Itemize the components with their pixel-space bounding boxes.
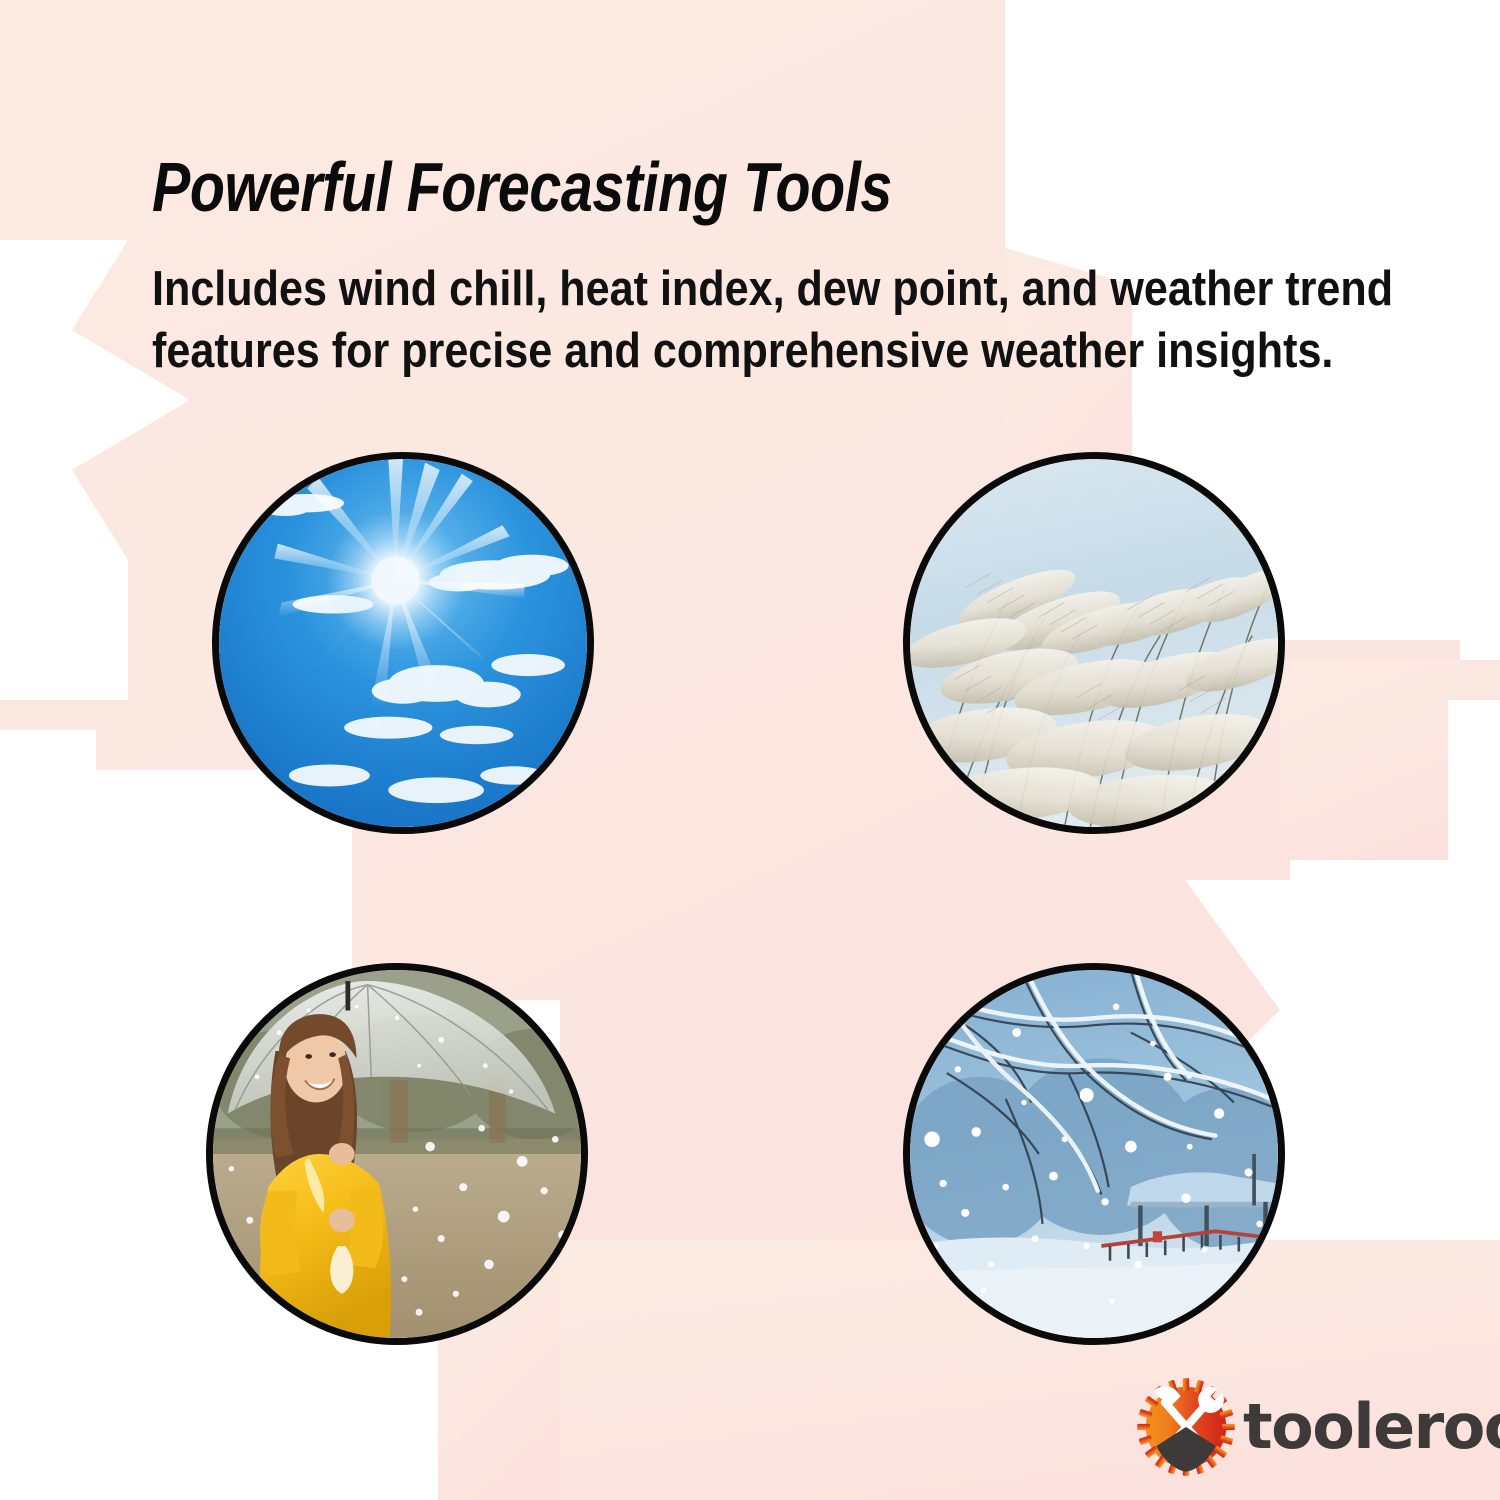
brand-logo[interactable]: tooleroo (1133, 1372, 1463, 1482)
headline-block: Powerful Forecasting Tools Includes wind… (152, 146, 1442, 382)
page-title: Powerful Forecasting Tools (152, 146, 1210, 228)
windy-grass-photo (903, 452, 1285, 834)
brand-wordmark: tooleroo (1243, 1396, 1500, 1458)
gear-notch-left-mid (0, 730, 96, 880)
page-subtitle: Includes wind chill, heat index, dew poi… (152, 258, 1437, 382)
rainy-girl-umbrella-photo (206, 963, 588, 1345)
gear-tooth-left-upper (0, 620, 128, 700)
snowy-park-photo (903, 963, 1285, 1345)
windy-grass-image (910, 459, 1278, 827)
rainy-girl-umbrella-image (213, 970, 581, 1338)
gear-with-crossed-tools-icon (1133, 1374, 1239, 1480)
snowy-park-image (910, 970, 1278, 1338)
sunny-sky-image (219, 459, 587, 827)
sunny-sky-photo (212, 452, 594, 834)
poster-canvas: Powerful Forecasting Tools Includes wind… (0, 0, 1500, 1500)
